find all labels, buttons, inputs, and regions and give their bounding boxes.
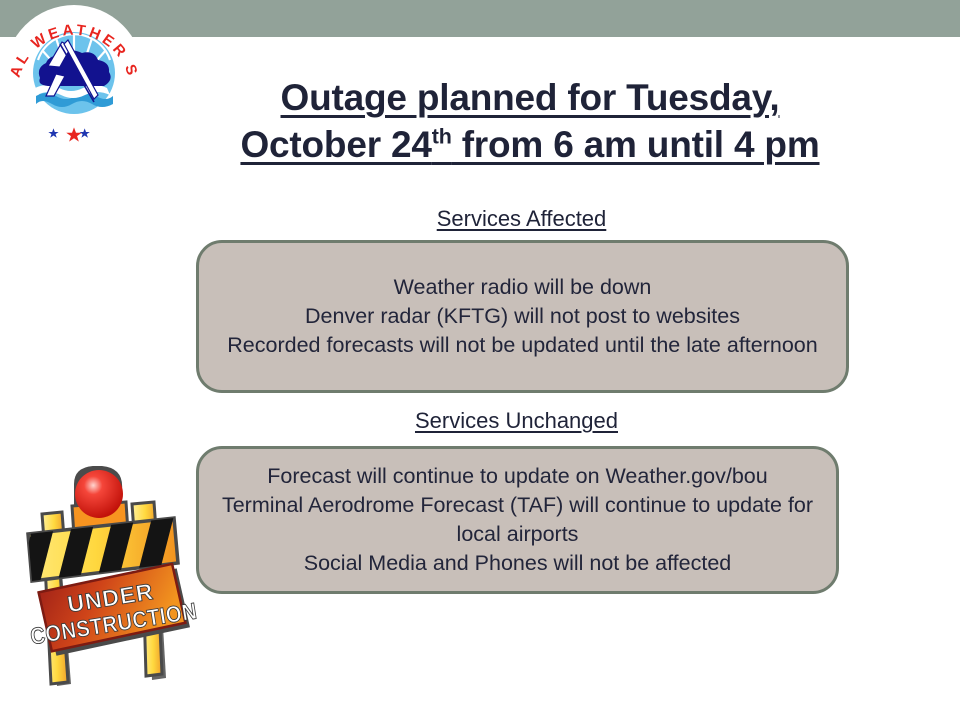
affected-line-1: Weather radio will be down <box>227 273 817 302</box>
services-affected-box: Weather radio will be down Denver radar … <box>196 240 849 393</box>
page-title-line-1: Outage planned for Tuesday, <box>150 74 910 121</box>
section-header-services-unchanged: Services Unchanged <box>195 408 838 434</box>
page-title-ordinal-suffix: th <box>432 125 452 149</box>
page-title-line-2: October 24th from 6 am until 4 pm <box>150 121 910 168</box>
affected-line-3: Recorded forecasts will not be updated u… <box>227 331 817 360</box>
services-affected-text: Weather radio will be down Denver radar … <box>227 273 817 360</box>
services-unchanged-box: Forecast will continue to update on Weat… <box>196 446 839 594</box>
services-unchanged-text: Forecast will continue to update on Weat… <box>213 462 822 578</box>
page-title: Outage planned for Tuesday, October 24th… <box>150 74 910 168</box>
under-construction-graphic: UNDER CONSTRUCTION <box>14 466 204 716</box>
page-title-time-range: from 6 am until 4 pm <box>452 124 820 165</box>
unchanged-line-1: Forecast will continue to update on Weat… <box>213 462 822 491</box>
unchanged-line-2: Terminal Aerodrome Forecast (TAF) will c… <box>213 491 822 549</box>
page-title-date-prefix: October 24 <box>240 124 431 165</box>
affected-line-2: Denver radar (KFTG) will not post to web… <box>227 302 817 331</box>
unchanged-line-3: Social Media and Phones will not be affe… <box>213 549 822 578</box>
nws-logo: NATIONAL WEATHER SERVICE <box>2 0 145 146</box>
section-header-services-affected: Services Affected <box>195 206 848 232</box>
